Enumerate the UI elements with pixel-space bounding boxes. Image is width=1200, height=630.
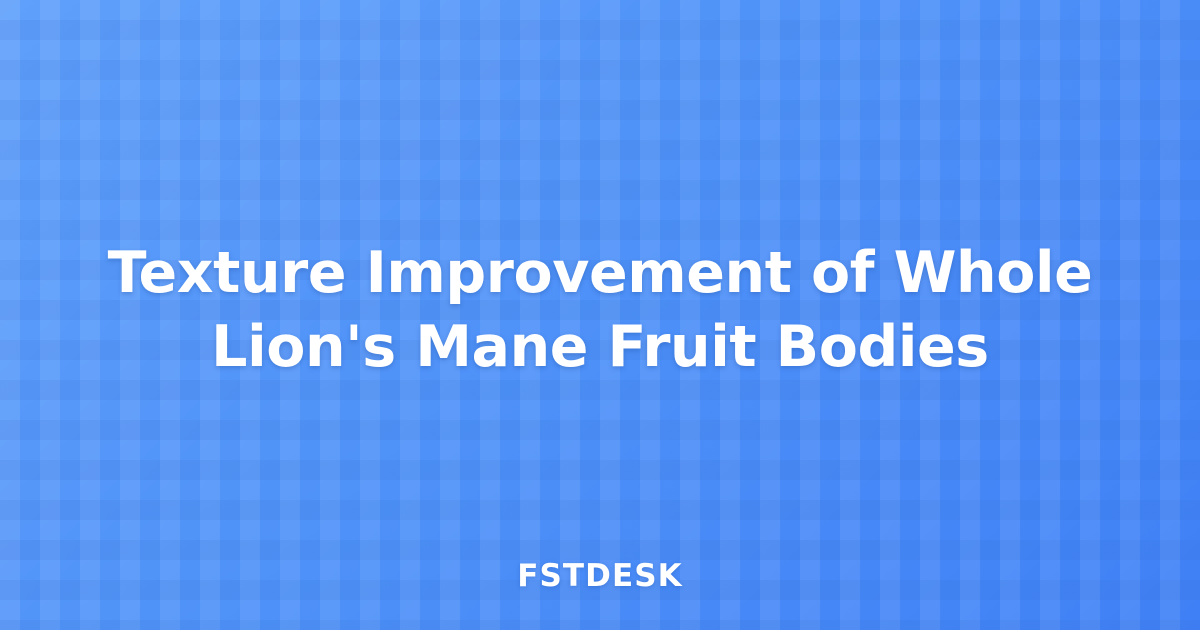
page-title: Texture Improvement of Whole Lion's Mane… — [100, 236, 1100, 384]
title-block: Texture Improvement of Whole Lion's Mane… — [0, 236, 1200, 384]
card-content: Texture Improvement of Whole Lion's Mane… — [0, 0, 1200, 630]
brand-block: FSTDESK — [0, 558, 1200, 594]
social-share-card: Texture Improvement of Whole Lion's Mane… — [0, 0, 1200, 630]
brand-wordmark: FSTDESK — [517, 558, 683, 594]
